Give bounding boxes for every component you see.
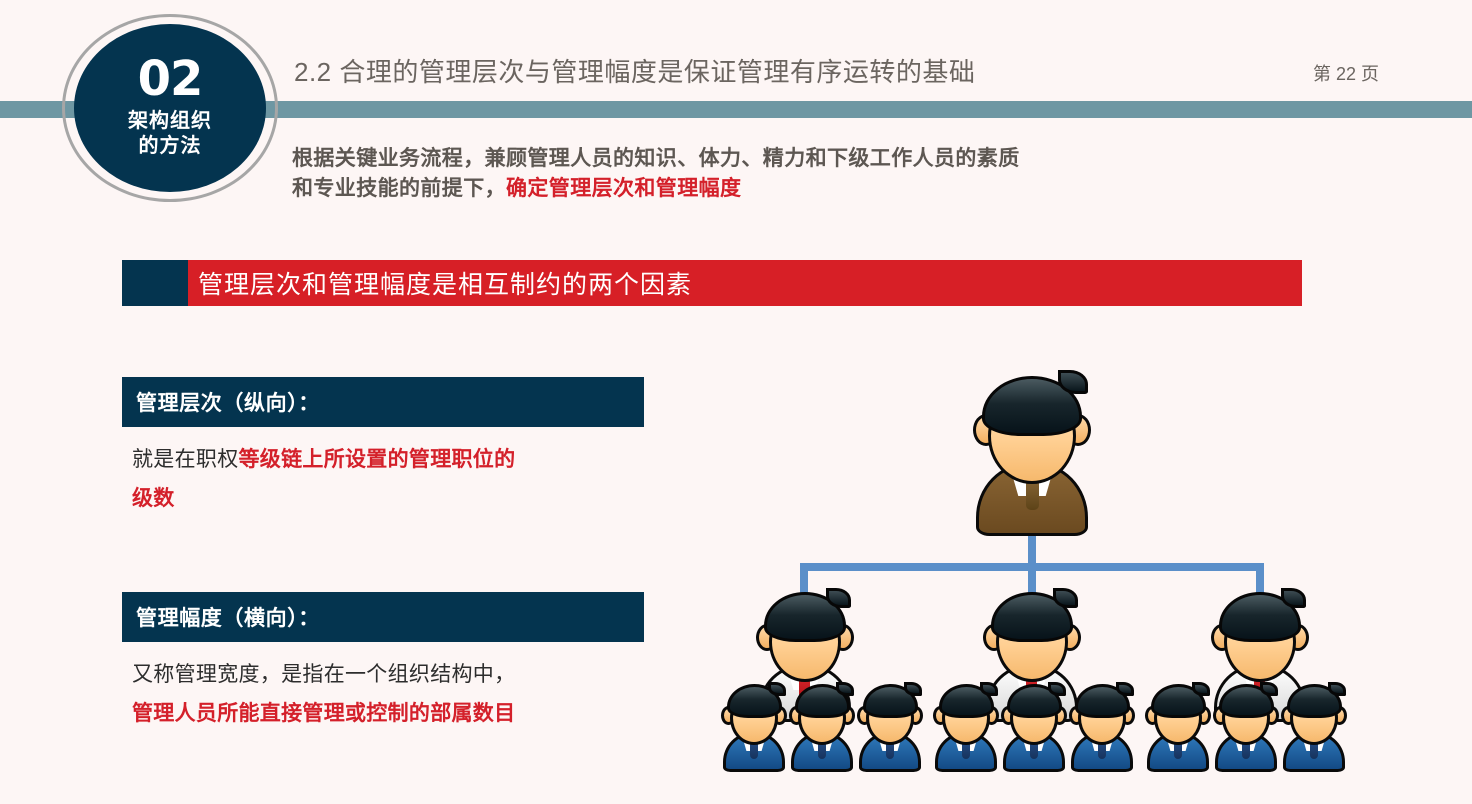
person-icon xyxy=(962,370,1102,535)
block-levels-heading: 管理层次（纵向）： xyxy=(122,377,644,427)
block-levels-text-plain: 就是在职权 xyxy=(132,448,239,471)
person-icon xyxy=(852,682,928,772)
page-title: 2.2 合理的管理层次与管理幅度是保证管理有序运转的基础 xyxy=(294,52,975,89)
person-hair-tuft-icon xyxy=(1116,682,1134,696)
definition-block-levels: 管理层次（纵向）： 就是在职权等级链上所设置的管理职位的 级数 xyxy=(122,377,644,519)
person-hair-tuft-icon xyxy=(904,682,922,696)
org-node-bottom xyxy=(928,682,1004,772)
block-levels-body: 就是在职权等级链上所设置的管理职位的 级数 xyxy=(122,427,644,519)
person-hair-tuft-icon xyxy=(1048,682,1066,696)
block-span-text-plain: 又称管理宽度，是指在一个组织结构中， xyxy=(132,663,515,686)
person-icon xyxy=(928,682,1004,772)
block-span-text-highlight: 管理人员所能直接管理或控制的部属数目 xyxy=(132,702,515,725)
page-number-label: 第 22 页 xyxy=(1313,60,1379,86)
person-hair-tuft-icon xyxy=(1328,682,1346,696)
banner-navy-tab xyxy=(122,260,188,306)
slide-root: 02 架构组织 的方法 2.2 合理的管理层次与管理幅度是保证管理有序运转的基础… xyxy=(0,0,1472,804)
block-span-heading: 管理幅度（横向）： xyxy=(122,592,644,642)
lead-line2-plain: 和专业技能的前提下， xyxy=(292,177,506,200)
badge-label-line2: 的方法 xyxy=(139,134,202,159)
org-node-top xyxy=(962,370,1102,535)
lead-line2-highlight: 确定管理层次和管理幅度 xyxy=(506,177,741,200)
lead-line1: 根据关键业务流程，兼顾管理人员的知识、体力、精力和下级工作人员的素质 xyxy=(292,147,1020,170)
person-hair-tuft-icon xyxy=(1260,682,1278,696)
section-banner: 管理层次和管理幅度是相互制约的两个因素 xyxy=(122,260,1302,306)
badge-label-line1: 架构组织 xyxy=(128,109,212,134)
person-hair-tuft-icon xyxy=(836,682,854,696)
org-node-bottom xyxy=(852,682,928,772)
person-icon xyxy=(1140,682,1216,772)
person-hair-tuft-icon xyxy=(768,682,786,696)
lead-paragraph: 根据关键业务流程，兼顾管理人员的知识、体力、精力和下级工作人员的素质 和专业技能… xyxy=(292,144,1302,205)
block-levels-text-highlight-1: 等级链上所设置的管理职位的 xyxy=(239,448,516,471)
person-hair-tuft-icon xyxy=(1192,682,1210,696)
section-badge: 02 架构组织 的方法 xyxy=(62,14,278,202)
block-levels-text-highlight-2: 级数 xyxy=(132,487,175,510)
block-span-body: 又称管理宽度，是指在一个组织结构中， 管理人员所能直接管理或控制的部属数目 xyxy=(122,642,644,734)
org-node-bottom xyxy=(1140,682,1216,772)
org-node-bottom xyxy=(716,682,792,772)
definition-block-span: 管理幅度（横向）： 又称管理宽度，是指在一个组织结构中， 管理人员所能直接管理或… xyxy=(122,592,644,734)
person-hair-tuft-icon xyxy=(980,682,998,696)
badge-number: 02 xyxy=(138,57,203,103)
org-chart-illustration xyxy=(700,360,1360,780)
person-icon xyxy=(716,682,792,772)
badge-disc: 02 架构组织 的方法 xyxy=(74,24,266,192)
banner-text: 管理层次和管理幅度是相互制约的两个因素 xyxy=(198,260,692,306)
